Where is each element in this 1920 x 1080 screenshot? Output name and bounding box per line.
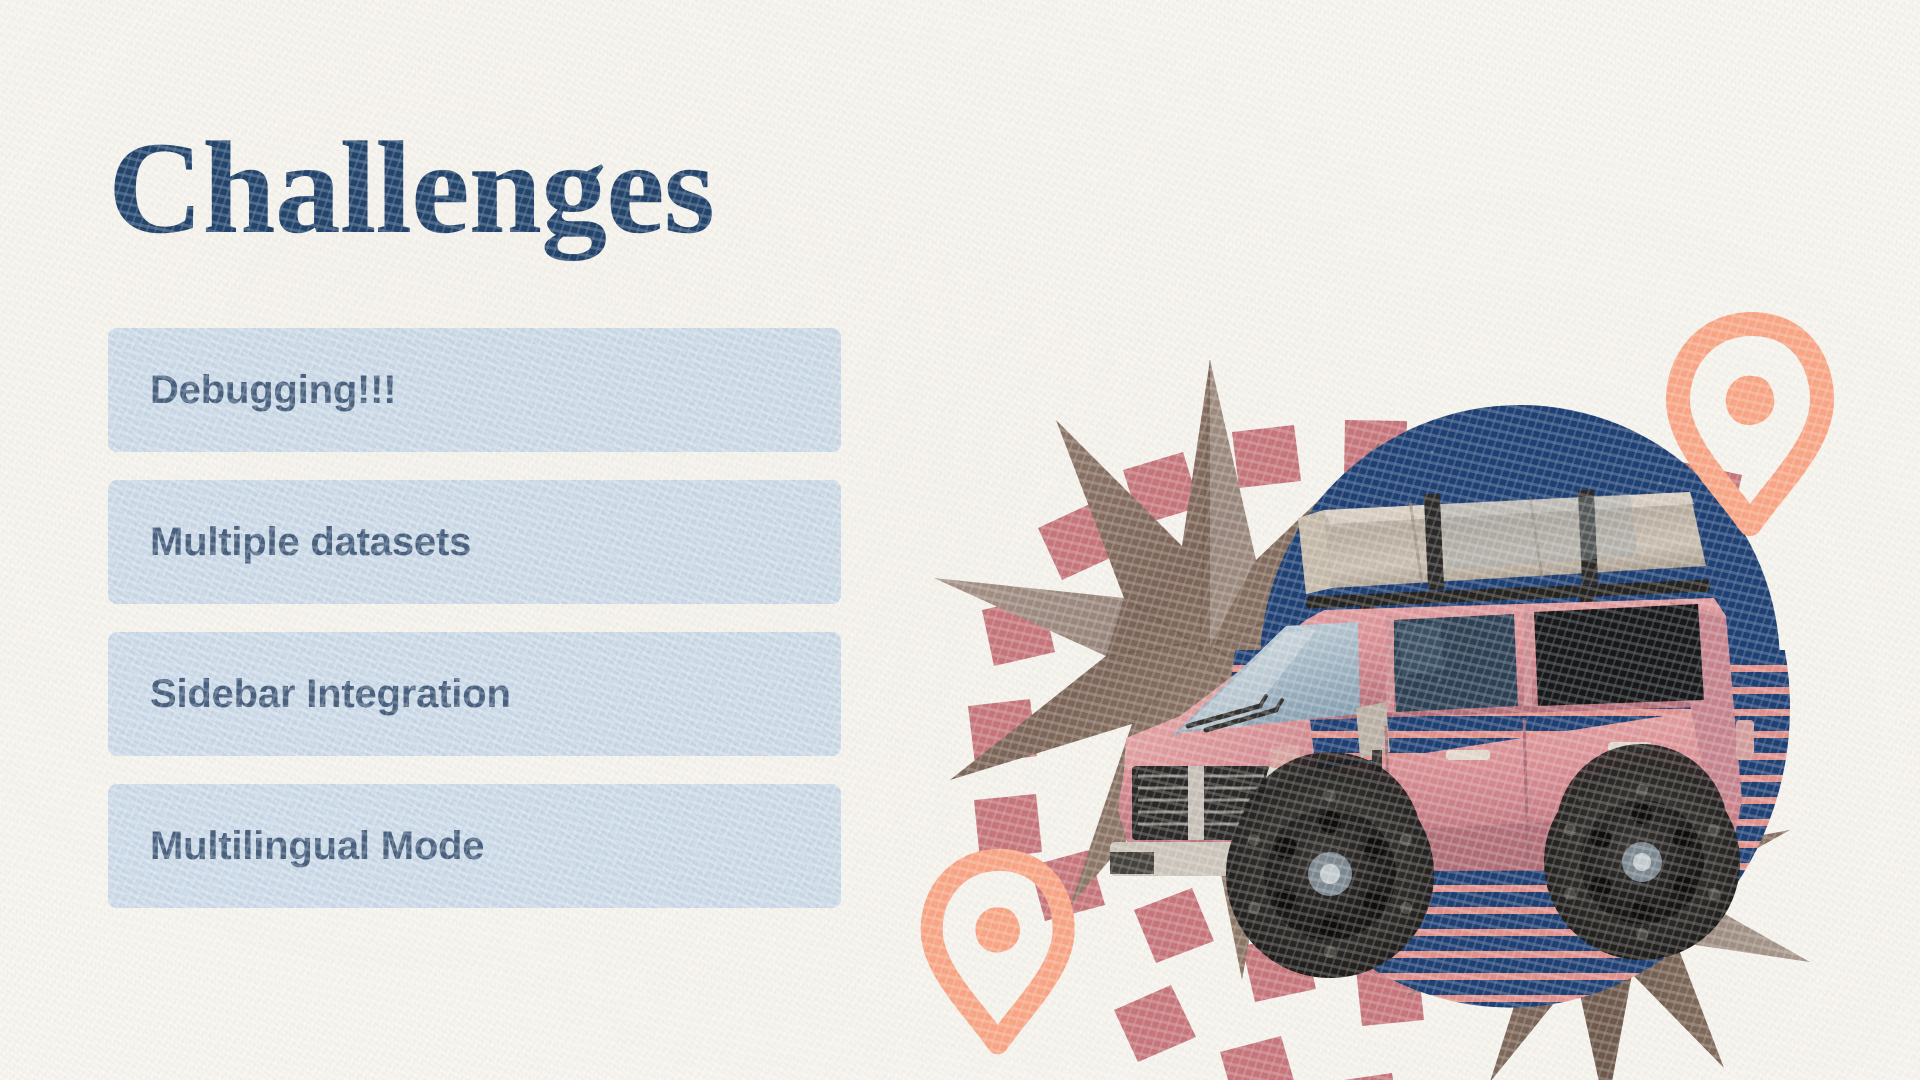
side-windows [1386,604,1704,712]
list-item-label: Multiple datasets [150,520,471,565]
slide-canvas: Challenges Debugging!!! Multiple dataset… [0,0,1920,1080]
content-column: Challenges Debugging!!! Multiple dataset… [108,0,948,1080]
roof-tent [1298,490,1706,594]
list-item-label: Multilingual Mode [150,824,484,869]
list-item[interactable]: Debugging!!! [108,328,841,452]
travel-collage [930,320,1920,1080]
door-handle [1446,750,1490,760]
offroad-suv-icon [1110,470,1850,1030]
list-item-label: Debugging!!! [150,368,396,413]
list-item[interactable]: Multilingual Mode [108,784,841,908]
map-pin-top-right-icon [1662,310,1842,540]
list-item-label: Sidebar Integration [150,672,511,717]
list-item[interactable]: Multiple datasets [108,480,841,604]
rear-wheel [1544,764,1740,960]
page-title: Challenges [108,122,714,254]
tail-light [1736,720,1754,760]
front-wheel [1226,770,1434,978]
windshield [1170,622,1360,738]
list-item[interactable]: Sidebar Integration [108,632,841,756]
challenges-list: Debugging!!! Multiple datasets Sidebar I… [108,328,841,936]
